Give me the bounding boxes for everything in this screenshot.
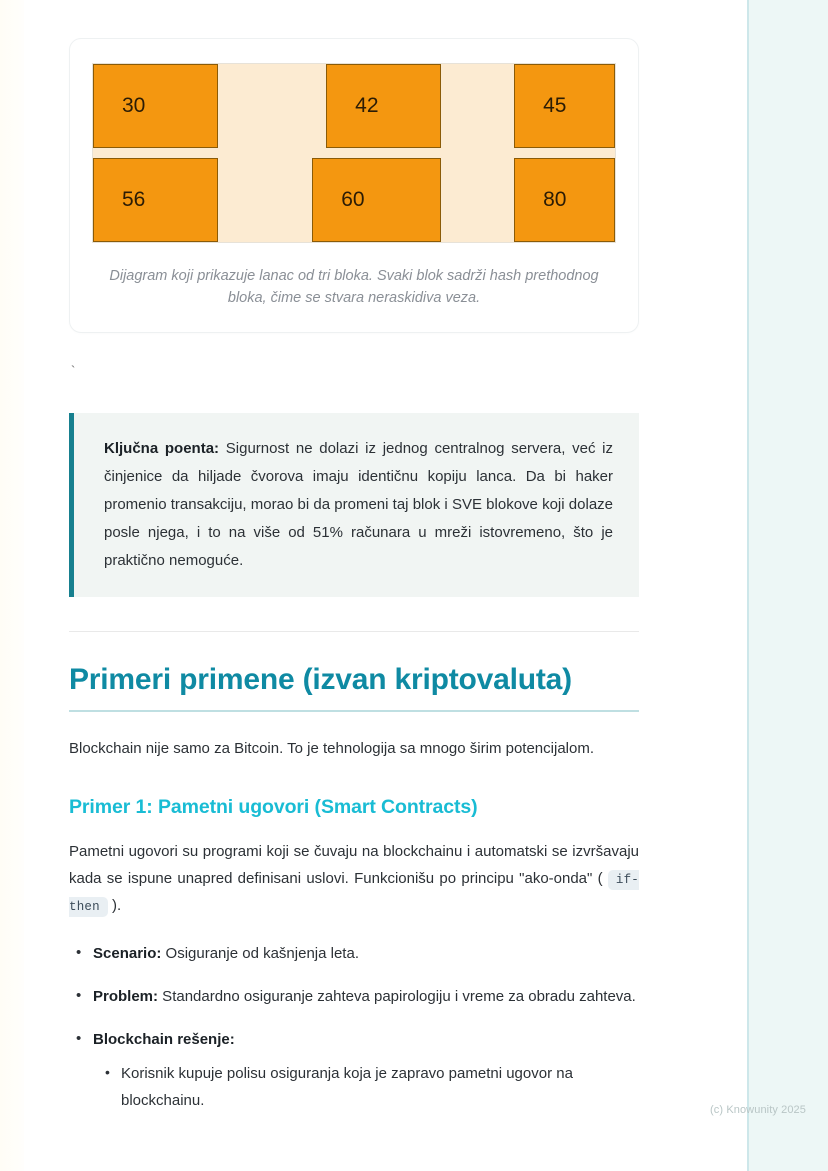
page-root: 30 42 45 56 (0, 0, 828, 1171)
examples-sublist: Korisnik kupuje polisu osiguranja koja j… (93, 1061, 639, 1114)
examples-list: Scenario: Osiguranje od kašnjenja leta. … (69, 941, 639, 1114)
page-title: Primeri primene (izvan kriptovaluta) (69, 662, 639, 697)
footer-watermark: (c) Knowunity 2025 (710, 1104, 806, 1116)
document-content: 30 42 45 56 (69, 0, 639, 1131)
section-divider (69, 631, 639, 632)
list-item: Scenario: Osiguranje od kašnjenja leta. (93, 941, 639, 968)
subsection-title: Primer 1: Pametni ugovori (Smart Contrac… (69, 796, 639, 819)
diagram-block-value: 45 (515, 94, 566, 118)
diagram-cell-r1c2: 42 (267, 64, 441, 153)
figure-card: 30 42 45 56 (69, 38, 639, 333)
subsection-paragraph: Pametni ugovori su programi koji se čuva… (69, 839, 639, 919)
title-underline (69, 710, 639, 712)
section-intro-paragraph: Blockchain nije samo za Bitcoin. To je t… (69, 736, 639, 763)
figure-caption: Dijagram koji prikazuje lanac od tri blo… (106, 265, 602, 310)
diagram-cell-r1c1: 30 (93, 64, 267, 153)
page-left-gutter (0, 0, 24, 1171)
list-item-lead: Problem: (93, 988, 158, 1005)
callout-paragraph: Ključna poenta: Sigurnost ne dolazi iz j… (104, 435, 613, 575)
diagram-block: 42 (326, 64, 441, 148)
right-rail (749, 0, 828, 1171)
diagram-block-value: 80 (515, 188, 566, 212)
paragraph-text-part2: ). (112, 897, 121, 914)
list-item-lead: Blockchain rešenje: (93, 1031, 235, 1048)
diagram-cell-r1c3: 45 (441, 64, 615, 153)
list-item-text: Standardno osiguranje zahteva papirologi… (158, 988, 636, 1005)
document-sheet: 30 42 45 56 (24, 0, 749, 1171)
diagram-cell-r2c3: 80 (441, 153, 615, 242)
callout-lead-label: Ključna poenta: (104, 440, 219, 457)
diagram-block-value: 56 (94, 188, 145, 212)
key-point-callout: Ključna poenta: Sigurnost ne dolazi iz j… (69, 413, 639, 597)
diagram-block: 60 (312, 158, 441, 242)
diagram-cell-r2c1: 56 (93, 153, 267, 242)
list-item: Blockchain rešenje: Korisnik kupuje poli… (93, 1027, 639, 1115)
diagram-block: 80 (514, 158, 615, 242)
blockchain-diagram: 30 42 45 56 (92, 63, 616, 243)
diagram-cell-r2c2: 60 (267, 153, 441, 242)
diagram-block: 30 (93, 64, 218, 148)
diagram-block-value: 60 (313, 188, 364, 212)
diagram-block: 56 (93, 158, 218, 242)
callout-body-text: Sigurnost ne dolazi iz jednog centralnog… (104, 440, 613, 569)
sub-list-item: Korisnik kupuje polisu osiguranja koja j… (121, 1061, 639, 1114)
diagram-block-value: 30 (94, 94, 145, 118)
diagram-block: 45 (514, 64, 615, 148)
stray-backtick-text: ` (71, 363, 639, 379)
paragraph-text-part1: Pametni ugovori su programi koji se čuva… (69, 843, 639, 887)
diagram-block-value: 42 (327, 94, 378, 118)
list-item-lead: Scenario: (93, 945, 161, 962)
list-item: Problem: Standardno osiguranje zahteva p… (93, 984, 639, 1011)
list-item-text: Osiguranje od kašnjenja leta. (161, 945, 359, 962)
